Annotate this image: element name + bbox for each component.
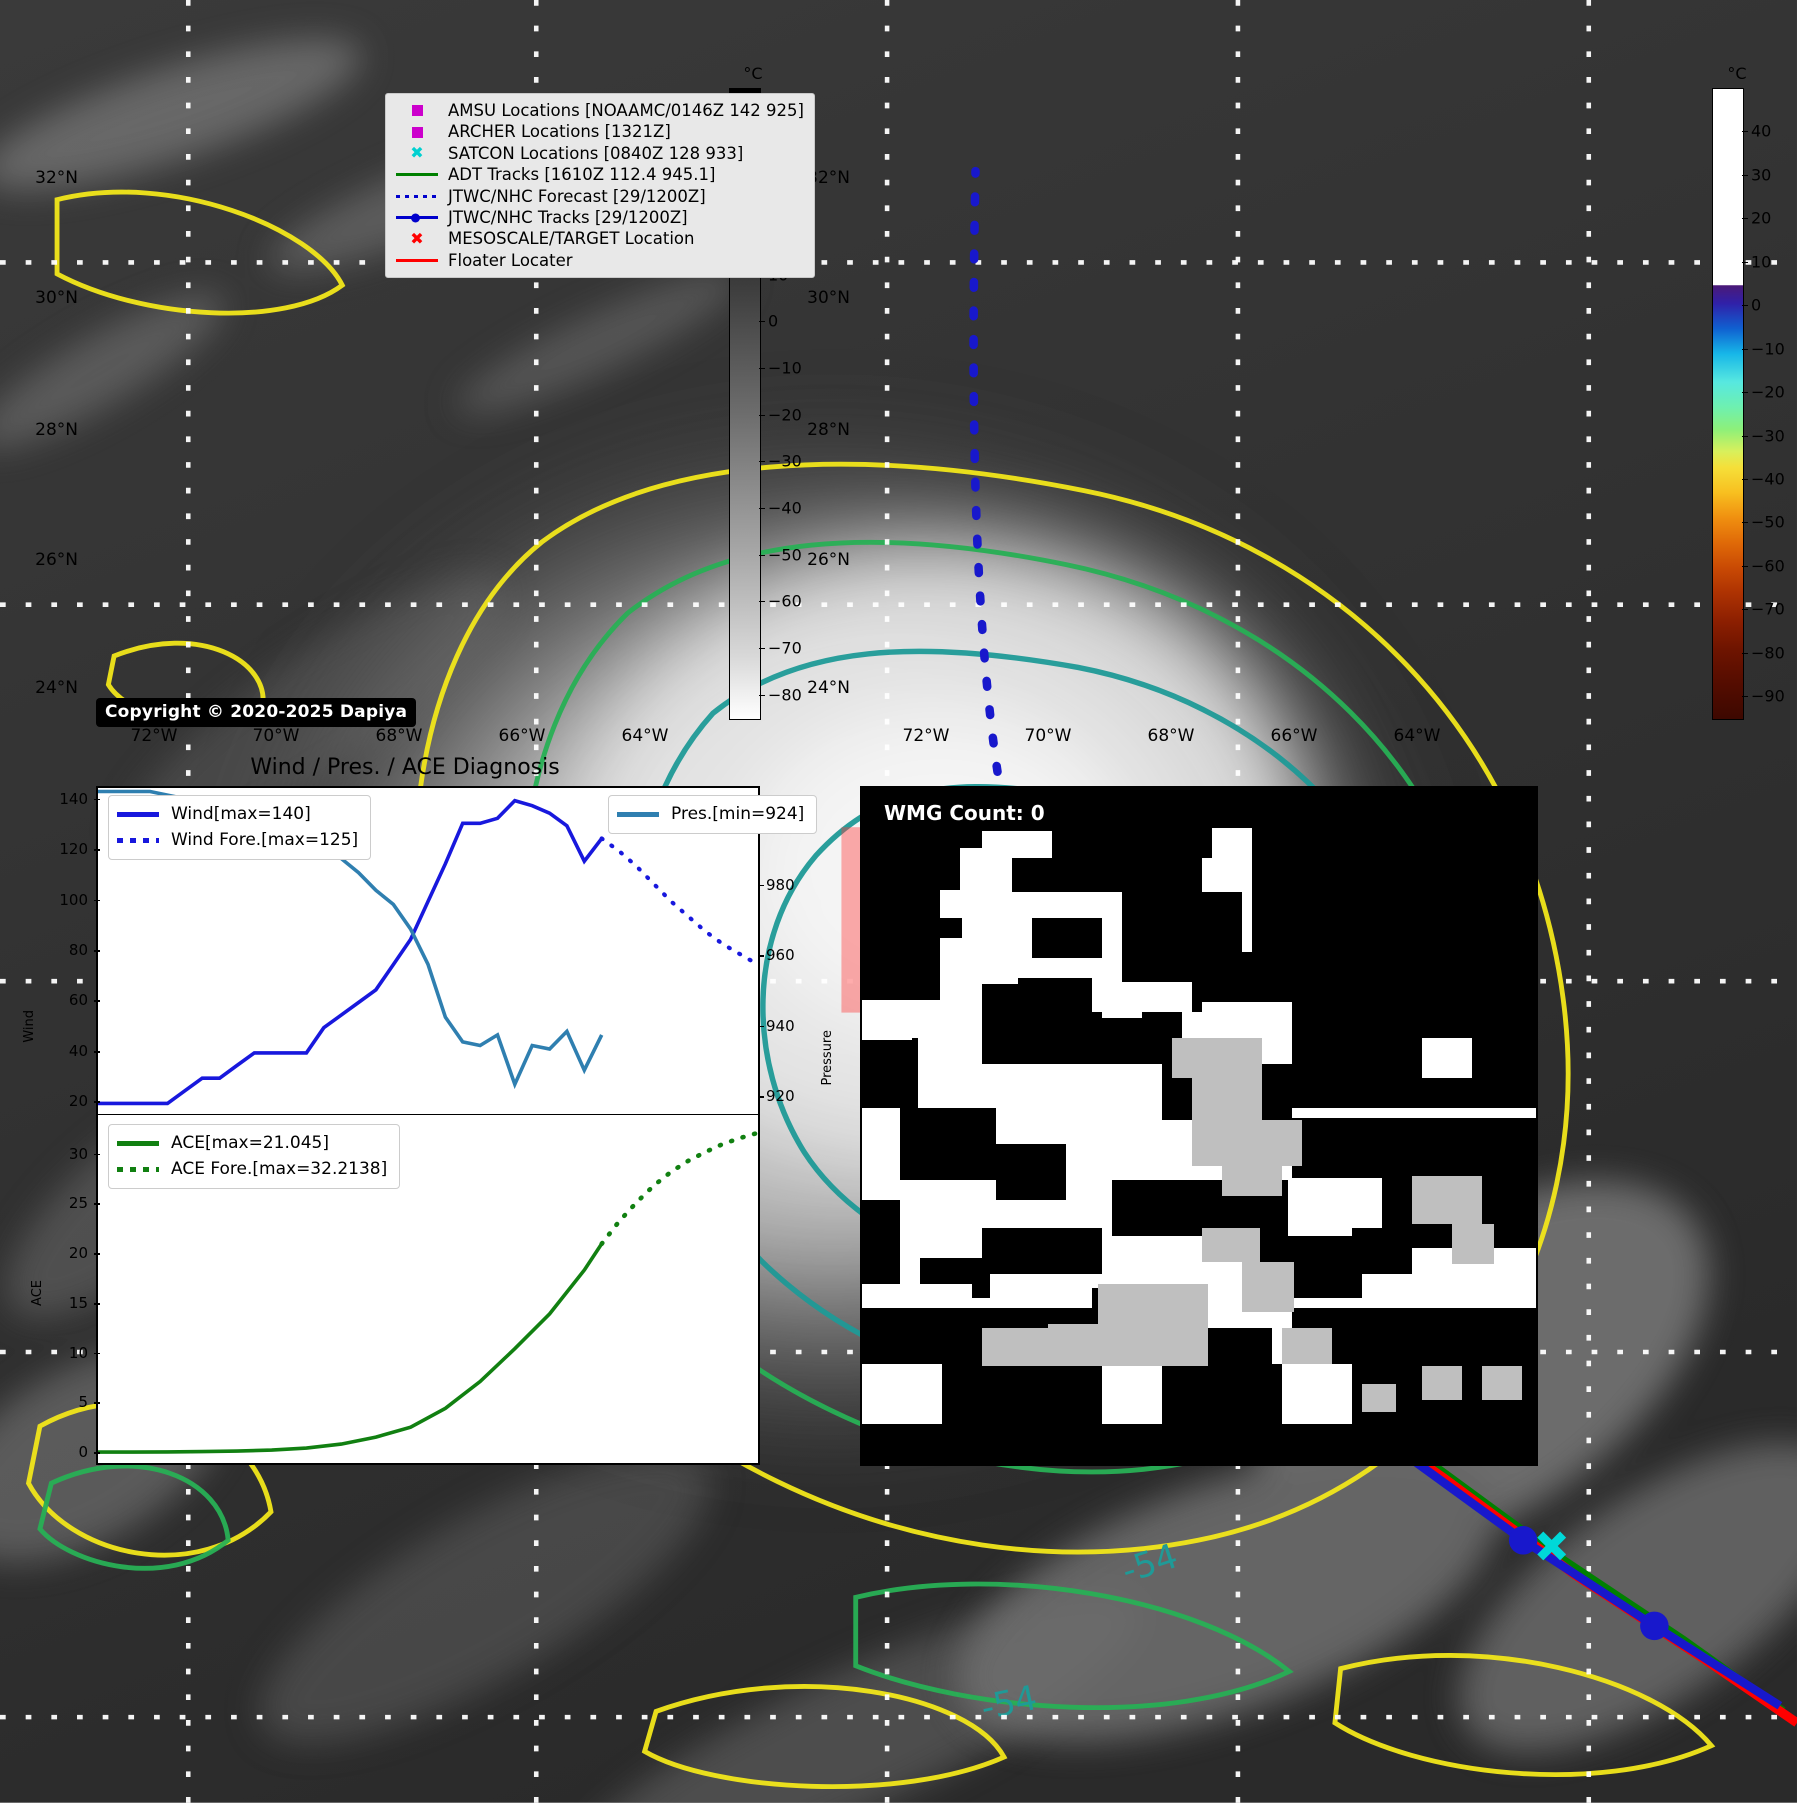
p1-xtick: 70°W <box>253 726 300 746</box>
colorbar-tick: −20 <box>1751 383 1785 402</box>
colorbar-tick: −90 <box>1751 687 1785 706</box>
colorbar-tick: −60 <box>768 592 802 611</box>
p2-xtick: 68°W <box>1148 726 1195 746</box>
legend-item-adt-tracks: ADT Tracks [1610Z 112.4 945.1] <box>394 164 804 185</box>
p1-xtick: 64°W <box>622 726 669 746</box>
colorbar-tick: −70 <box>1751 600 1785 619</box>
wmg-raster <box>862 788 1536 1464</box>
legend-item-wind: Wind[max=140] <box>117 801 358 827</box>
colorbar-tick: 10 <box>1751 252 1771 271</box>
p1-ytick: 30°N <box>35 288 78 308</box>
colorbar-tick: 0 <box>768 312 778 331</box>
axis-tick-label: 140 <box>59 790 88 808</box>
axis-tickmark <box>94 1000 100 1002</box>
legend-item-ace-forecast: ACE Fore.[max=32.2138] <box>117 1156 387 1182</box>
legend-label: ACE Fore.[max=32.2138] <box>171 1156 387 1182</box>
legend-label: ARCHER Locations [1321Z] <box>448 121 671 142</box>
colorbar-tickmark <box>1742 653 1748 654</box>
axis-tick-label: 40 <box>69 1042 88 1060</box>
axis-tickmark <box>758 885 764 887</box>
map-legend: AMSU Locations [NOAAMC/0146Z 142 925] AR… <box>385 93 815 278</box>
legend-item-wind-forecast: Wind Fore.[max=125] <box>117 827 358 853</box>
colorbar-tickmark <box>1742 479 1748 480</box>
colorbar-tickmark <box>1742 305 1748 306</box>
colorbar-tickmark <box>1742 262 1748 263</box>
colorbar-tick: 30 <box>1751 165 1771 184</box>
colorbar-tickmark <box>759 648 765 649</box>
colorbar-tickmark <box>759 461 765 462</box>
colorbar-right <box>1712 88 1744 720</box>
p2-xtick: 64°W <box>1394 726 1441 746</box>
line-marker-icon <box>394 216 440 219</box>
axis-tick-label: 10 <box>69 1344 88 1362</box>
axis-tickmark <box>94 1452 100 1454</box>
p1-ytick: 24°N <box>35 678 78 698</box>
colorbar-tickmark <box>1742 566 1748 567</box>
colorbar-tick: 0 <box>1751 296 1761 315</box>
colorbar-tickmark <box>1742 436 1748 437</box>
axis-tickmark <box>758 1096 764 1098</box>
line-icon <box>394 173 440 176</box>
axis-tickmark <box>94 950 100 952</box>
line-icon <box>117 812 163 817</box>
axis-tickmark <box>94 1353 100 1355</box>
axis-tickmark <box>758 1026 764 1028</box>
axis-tick-label: 100 <box>59 891 88 909</box>
axis-tick-label: 120 <box>59 840 88 858</box>
colorbar-tickmark <box>1742 696 1748 697</box>
colorbar-tick: −30 <box>768 452 802 471</box>
colorbar-unit-right: °C <box>1727 64 1746 83</box>
colorbar-tickmark <box>759 368 765 369</box>
colorbar-tick: −60 <box>1751 556 1785 575</box>
copyright-badge: Copyright © 2020-2025 Dapiya <box>96 698 416 727</box>
axis-tick-label: 60 <box>69 991 88 1009</box>
legend-label: ACE[max=21.045] <box>171 1130 329 1156</box>
axis-tick-label: 15 <box>69 1294 88 1312</box>
square-icon <box>394 127 440 138</box>
panel-wmg[interactable] <box>860 786 1538 1466</box>
axis-tick-label: 25 <box>69 1194 88 1212</box>
axis-label-ace: ACE <box>30 1280 45 1306</box>
colorbar-tick: 40 <box>1751 122 1771 141</box>
colorbar-tickmark <box>759 555 765 556</box>
cross-icon: ✖ <box>394 231 440 247</box>
legend-label: Floater Locater <box>448 250 573 271</box>
p2-ytick: 24°N <box>807 678 850 698</box>
p1-ytick: 28°N <box>35 420 78 440</box>
chart-title-wind-pres-ace: Wind / Pres. / ACE Diagnosis <box>250 755 559 780</box>
axis-tickmark <box>94 1101 100 1103</box>
axis-tickmark <box>94 1402 100 1404</box>
legend-item-ace: ACE[max=21.045] <box>117 1130 387 1156</box>
square-icon <box>394 105 440 116</box>
axis-tickmark <box>94 799 100 801</box>
legend-label: Wind Fore.[max=125] <box>171 827 358 853</box>
line-icon <box>617 812 663 817</box>
legend-ace: ACE[max=21.045] ACE Fore.[max=32.2138] <box>108 1124 400 1189</box>
axis-tickmark <box>94 1253 100 1255</box>
p2-xtick: 70°W <box>1025 726 1072 746</box>
legend-label: JTWC/NHC Tracks [29/1200Z] <box>448 207 688 228</box>
colorbar-tick: −80 <box>768 685 802 704</box>
legend-item-archer: ARCHER Locations [1321Z] <box>394 121 804 142</box>
legend-pressure: Pres.[min=924] <box>608 795 817 834</box>
colorbar-tickmark <box>759 508 765 509</box>
colorbar-tick: −40 <box>768 499 802 518</box>
legend-item-amsu: AMSU Locations [NOAAMC/0146Z 142 925] <box>394 100 804 121</box>
colorbar-tickmark <box>759 415 765 416</box>
colorbar-tick: −20 <box>768 405 802 424</box>
legend-item-floater-locater: Floater Locater <box>394 250 804 271</box>
legend-item-mesoscale-target: ✖ MESOSCALE/TARGET Location <box>394 228 804 249</box>
colorbar-tickmark <box>1742 609 1748 610</box>
axis-tick-label: 0 <box>78 1443 88 1461</box>
colorbar-tick: −50 <box>768 545 802 564</box>
axis-tickmark <box>94 1154 100 1156</box>
legend-label: Wind[max=140] <box>171 801 311 827</box>
legend-item-jtwc-tracks: JTWC/NHC Tracks [29/1200Z] <box>394 207 804 228</box>
axis-tick-label: 5 <box>78 1393 88 1411</box>
legend-label: JTWC/NHC Forecast [29/1200Z] <box>448 186 706 207</box>
axis-tick-label: 30 <box>69 1145 88 1163</box>
legend-label: AMSU Locations [NOAAMC/0146Z 142 925] <box>448 100 804 121</box>
p2-ytick: 28°N <box>807 420 850 440</box>
p1-xtick: 68°W <box>376 726 423 746</box>
legend-item-jtwc-forecast: JTWC/NHC Forecast [29/1200Z] <box>394 186 804 207</box>
axis-tickmark <box>94 1051 100 1053</box>
colorbar-tick: −50 <box>1751 513 1785 532</box>
colorbar-tickmark <box>759 695 765 696</box>
p1-xtick: 66°W <box>499 726 546 746</box>
legend-label: ADT Tracks [1610Z 112.4 945.1] <box>448 164 715 185</box>
colorbar-tickmark <box>1742 349 1748 350</box>
colorbar-tick: −80 <box>1751 643 1785 662</box>
colorbar-tickmark <box>1742 131 1748 132</box>
cross-icon: ✖ <box>394 145 440 161</box>
p2-xtick: 66°W <box>1271 726 1318 746</box>
legend-wind: Wind[max=140] Wind Fore.[max=125] <box>108 795 371 860</box>
colorbar-tickmark <box>1742 392 1748 393</box>
colorbar-tickmark <box>759 321 765 322</box>
colorbar-tickmark <box>1742 218 1748 219</box>
p2-ytick: 26°N <box>807 550 850 570</box>
colorbar-tick: −30 <box>1751 426 1785 445</box>
axis-tick-label: 20 <box>69 1092 88 1110</box>
axis-tick-label: 80 <box>69 941 88 959</box>
axis-label-wind: Wind <box>22 1010 37 1043</box>
axis-tickmark <box>758 955 764 957</box>
legend-label: MESOSCALE/TARGET Location <box>448 228 694 249</box>
line-icon <box>117 1141 163 1146</box>
colorbar-tick: −10 <box>768 359 802 378</box>
colorbar-tick: 20 <box>1751 209 1771 228</box>
legend-item-pressure: Pres.[min=924] <box>617 801 804 827</box>
colorbar-tickmark <box>759 601 765 602</box>
axis-tick-label: 20 <box>69 1244 88 1262</box>
axis-tickmark <box>94 849 100 851</box>
legend-label: SATCON Locations [0840Z 128 933] <box>448 143 743 164</box>
colorbar-tick: −40 <box>1751 470 1785 489</box>
dotted-line-icon <box>117 838 163 843</box>
line-icon <box>394 259 440 262</box>
dotted-line-icon <box>117 1167 163 1172</box>
axis-tick-label: 980 <box>766 876 795 894</box>
axis-tick-label: 960 <box>766 946 795 964</box>
p2-ytick: 30°N <box>807 288 850 308</box>
p1-ytick: 26°N <box>35 550 78 570</box>
axis-tickmark <box>94 1303 100 1305</box>
p1-ytick: 32°N <box>35 168 78 188</box>
axis-tickmark <box>94 1203 100 1205</box>
dotted-line-icon <box>394 195 440 198</box>
p1-xtick: 72°W <box>131 726 178 746</box>
axis-tick-label: 940 <box>766 1017 795 1035</box>
axis-tickmark <box>94 900 100 902</box>
colorbar-tick: −10 <box>1751 339 1785 358</box>
colorbar-tick: −70 <box>768 639 802 658</box>
legend-item-satcon: ✖ SATCON Locations [0840Z 128 933] <box>394 143 804 164</box>
legend-label: Pres.[min=924] <box>671 801 804 827</box>
colorbar-tickmark <box>1742 522 1748 523</box>
axis-label-pressure: Pressure <box>820 1030 835 1086</box>
axis-tick-label: 920 <box>766 1087 795 1105</box>
colorbar-unit-left: °C <box>743 64 762 83</box>
p2-xtick: 72°W <box>903 726 950 746</box>
wmg-count-badge: WMG Count: 0 <box>872 797 1057 831</box>
colorbar-tickmark <box>1742 175 1748 176</box>
